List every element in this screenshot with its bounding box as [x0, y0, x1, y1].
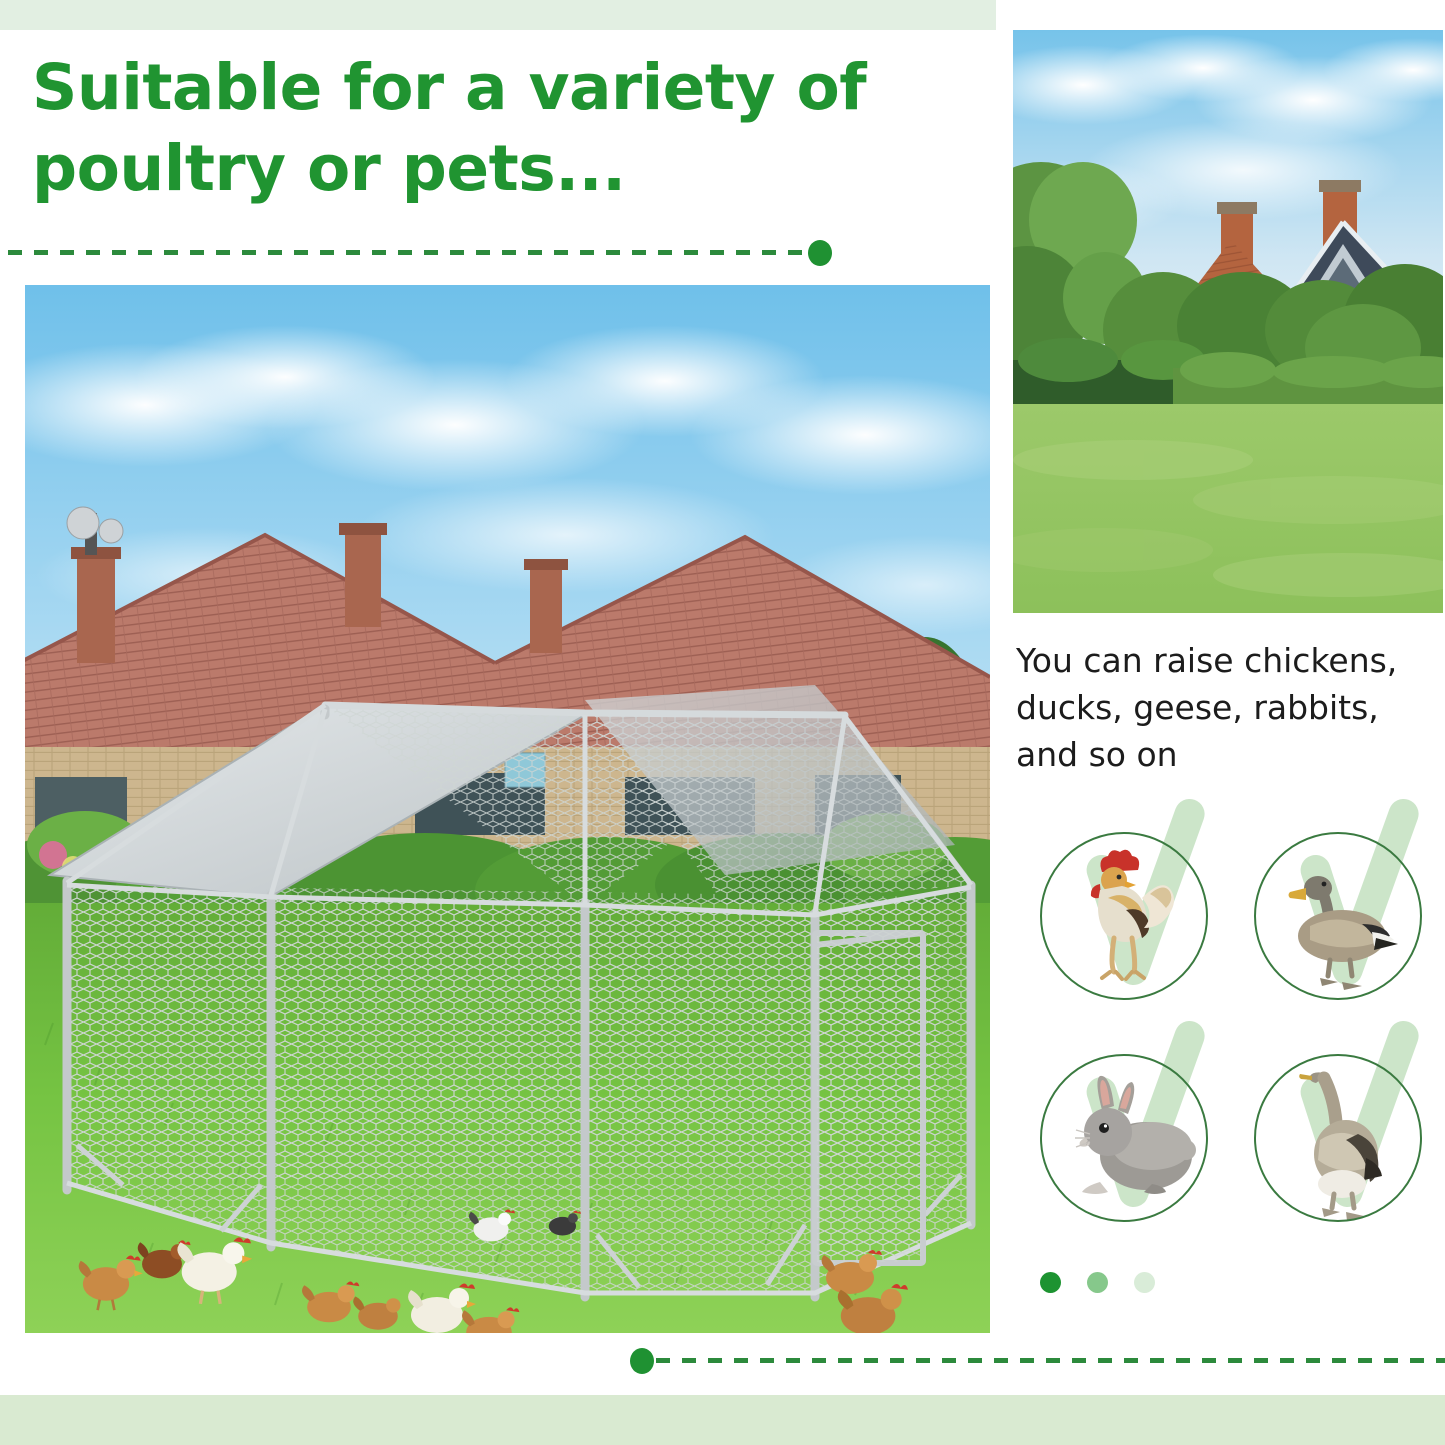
divider-dashes	[8, 250, 803, 255]
pagination-dot-3[interactable]	[1134, 1272, 1155, 1293]
badge-ring	[1254, 1054, 1422, 1222]
side-description: You can raise chickens, ducks, geese, ra…	[1016, 638, 1436, 779]
badge-ring	[1254, 832, 1422, 1000]
pagination-dots[interactable]	[1040, 1272, 1155, 1293]
top-accent-band	[0, 0, 996, 30]
badge-rabbit[interactable]	[1022, 1030, 1226, 1246]
divider-bottom	[630, 1358, 1445, 1363]
animal-badge-grid	[1022, 808, 1440, 1246]
badge-duck[interactable]	[1236, 808, 1440, 1024]
divider-start-dot	[630, 1348, 654, 1374]
page-title: Suitable for a variety of poultry or pet…	[32, 48, 972, 209]
badge-ring	[1040, 832, 1208, 1000]
bottom-accent-band	[0, 1395, 1445, 1445]
headline-line-2: poultry or pets...	[32, 129, 972, 210]
pagination-dot-1[interactable]	[1040, 1272, 1061, 1293]
headline-line-1: Suitable for a variety of	[32, 48, 972, 129]
badge-ring	[1040, 1054, 1208, 1222]
divider-end-dot	[808, 240, 832, 266]
pagination-dot-2[interactable]	[1087, 1272, 1108, 1293]
badge-chicken[interactable]	[1022, 808, 1226, 1024]
landscape-photo	[1013, 30, 1443, 613]
divider-dashes	[656, 1358, 1445, 1363]
divider-top	[8, 250, 832, 255]
badge-goose[interactable]	[1236, 1030, 1440, 1246]
hero-product-photo	[25, 285, 990, 1333]
